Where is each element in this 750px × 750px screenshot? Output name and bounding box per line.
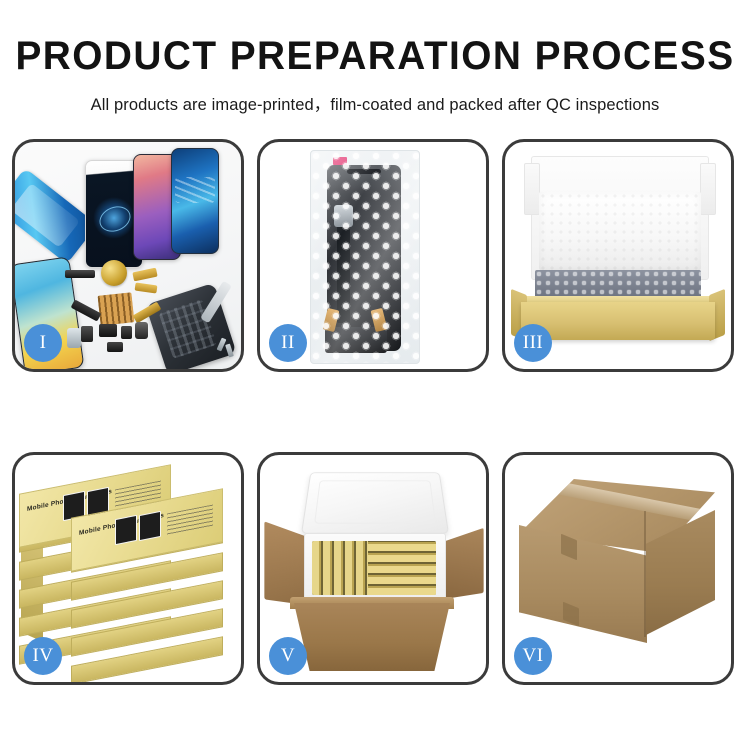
- box-thumb-2a: [115, 515, 137, 545]
- plastic-sheen-overlay: [311, 151, 419, 363]
- packed-boxes-contents: [312, 541, 436, 595]
- small-component-4: [135, 322, 148, 339]
- blue-wave-phone: [171, 148, 219, 254]
- box-thumb-2b: [139, 511, 161, 541]
- screen-artwork: [93, 197, 135, 239]
- step-badge-6: VI: [514, 637, 552, 675]
- flex-cable-part-1: [132, 268, 157, 282]
- foam-lid: [301, 472, 449, 533]
- carton-vertical-edge: [644, 511, 646, 637]
- chip-array-part: [98, 292, 135, 325]
- bubble-wrap-bag: [310, 150, 420, 364]
- process-step-panel-3[interactable]: III: [502, 139, 734, 372]
- product-preparation-process-page: PRODUCT PREPARATION PROCESS All products…: [0, 0, 750, 750]
- battery-connector-part: [67, 328, 81, 348]
- small-component-2: [99, 324, 117, 337]
- page-subtitle: All products are image-printed，film-coat…: [0, 79, 750, 115]
- packed-boxes-row-horizontal: [368, 541, 436, 595]
- step-badge-2: II: [269, 324, 307, 362]
- earpiece-part: [65, 270, 95, 278]
- process-step-panel-2[interactable]: II: [257, 139, 489, 372]
- process-step-panel-1[interactable]: I: [12, 139, 244, 372]
- step-badge-4: IV: [24, 637, 62, 675]
- step-badge-1: I: [24, 324, 62, 362]
- header: PRODUCT PREPARATION PROCESS All products…: [0, 0, 750, 115]
- speaker-coil-part: [101, 260, 127, 286]
- page-title: PRODUCT PREPARATION PROCESS: [11, 0, 739, 79]
- small-component-1: [81, 326, 93, 342]
- step-badge-5: V: [269, 637, 307, 675]
- small-component-3: [121, 326, 132, 339]
- process-step-panel-4[interactable]: Mobile Phone Spare Parts Mobile Phone Sp…: [12, 452, 244, 685]
- carton-body: [294, 603, 450, 671]
- process-step-panel-5[interactable]: V: [257, 452, 489, 685]
- small-component-5: [107, 342, 123, 352]
- step-badge-3: III: [514, 324, 552, 362]
- flex-cable-part-2: [135, 283, 158, 294]
- process-steps-grid: I II: [12, 139, 738, 685]
- white-foam-sheet: [539, 192, 701, 270]
- process-step-panel-6[interactable]: VI: [502, 452, 734, 685]
